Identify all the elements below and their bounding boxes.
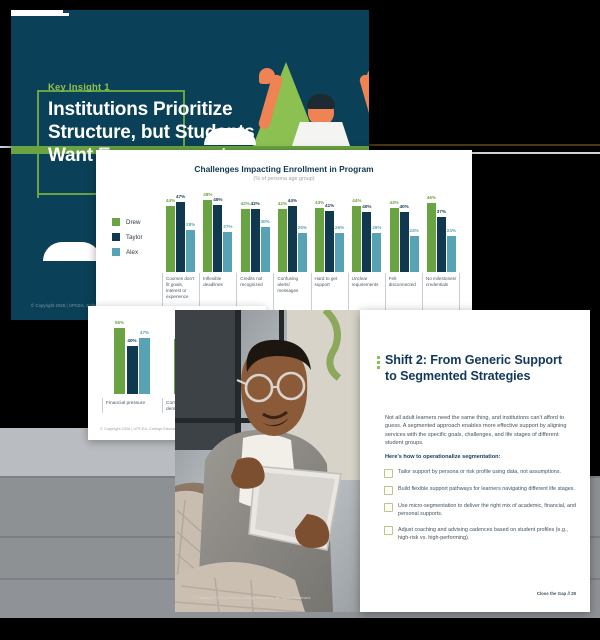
bullet-dots-icon: [377, 356, 380, 371]
bar-value-label: 45%: [213, 197, 222, 202]
bar-taylor: 40%: [127, 346, 138, 394]
bar-alex: 26%: [335, 233, 344, 272]
shift-paragraph: Not all adult learners need the same thi…: [385, 414, 575, 448]
bar-taylor: 40%: [400, 212, 409, 272]
bar-value-label: 42%: [241, 201, 250, 206]
bar-value-label: 30%: [261, 219, 270, 224]
chart-subtitle: (% of persona age group): [96, 176, 472, 182]
bar-value-label: 55%: [115, 320, 124, 325]
legend-item-drew: Drew: [112, 218, 143, 226]
chart-title: Challenges Impacting Enrollment in Progr…: [96, 164, 472, 174]
bar-alex: 30%: [261, 227, 270, 272]
x-axis-label: Credits not recognized: [236, 273, 273, 310]
bar-alex: 26%: [298, 233, 307, 272]
checkbox-icon[interactable]: [384, 503, 393, 512]
photo-illustration: [175, 310, 360, 612]
key-insight-kicker: Key Insight 1: [48, 82, 110, 93]
screenshot-stage: Key Insight 1 Institutions Prioritize St…: [0, 0, 600, 640]
legend-item-alex: Alex: [112, 248, 143, 256]
cloud-base-lower: [11, 13, 69, 16]
legend-label: Taylor: [126, 234, 143, 241]
bar-value-label: 42%: [251, 201, 260, 206]
bar-value-label: 40%: [362, 204, 371, 209]
bar-group: 48%45%27%: [199, 190, 236, 272]
chart-legend: DrewTaylorAlex: [112, 218, 143, 263]
bar-value-label: 41%: [325, 203, 334, 208]
bar-value-label: 24%: [447, 228, 456, 233]
checklist-item-label: Use micro-segmentation to deliver the ri…: [398, 502, 580, 518]
bar-value-label: 40%: [127, 338, 136, 343]
person-hair: [307, 94, 335, 109]
bar-drew: 43%: [315, 208, 324, 272]
legend-label: Drew: [126, 219, 140, 226]
checklist-item[interactable]: Use micro-segmentation to deliver the ri…: [384, 502, 580, 518]
secondary-chart-copyright: © Copyright 2026 | UPCEA, College Educat…: [100, 426, 182, 431]
bar-taylor: 42%: [251, 209, 260, 272]
bar-value-label: 28%: [186, 222, 195, 227]
bar-value-label: 24%: [410, 228, 419, 233]
bar-drew: 42%: [241, 209, 250, 272]
bar-group: 43%40%24%: [386, 190, 423, 272]
bar-value-label: 47%: [140, 330, 149, 335]
checklist-item-label: Build flexible support pathways for lear…: [398, 485, 575, 495]
x-axis-label: Unclear requirements: [348, 273, 385, 310]
title-frame-left: [37, 90, 39, 198]
checkbox-icon[interactable]: [384, 526, 393, 535]
shift-checklist: Tailor support by persona or risk profil…: [384, 468, 580, 549]
checklist-item-label: Tailor support by persona or risk profil…: [398, 468, 561, 478]
bar-value-label: 43%: [390, 200, 399, 205]
checklist-item-label: Adjust coaching and advising cadences ba…: [398, 526, 580, 542]
shift-lead-in: Here's how to operationalize segmentatio…: [385, 454, 500, 460]
bar-drew: 44%: [166, 206, 175, 272]
cloud-icon-lower: [43, 242, 101, 261]
bar-value-label: 46%: [427, 195, 436, 200]
enrollment-chart-slide[interactable]: Challenges Impacting Enrollment in Progr…: [96, 150, 472, 314]
x-axis-label: Financial pressure: [102, 398, 162, 413]
bar-group: 43%41%26%: [311, 190, 348, 272]
legend-label: Alex: [126, 249, 138, 256]
photo-copyright: © Copyright 2026 | UPCEA, College Educat…: [193, 595, 311, 600]
bar-drew: 44%: [352, 206, 361, 272]
x-axis-label: Confusing alerts/ messages: [273, 273, 310, 310]
shift-content-slide[interactable]: Shift 2: From Generic Support to Segment…: [360, 310, 590, 612]
bar-taylor: 40%: [362, 212, 371, 272]
x-axis-label: Felt disconnected: [385, 273, 422, 310]
bar-value-label: 44%: [288, 198, 297, 203]
x-axis-label: Hard to get support: [311, 273, 348, 310]
shift-title: Shift 2: From Generic Support to Segment…: [385, 352, 570, 384]
bar-value-label: 47%: [176, 194, 185, 199]
bar-group: 44%47%28%: [162, 190, 199, 272]
bar-taylor: 41%: [325, 211, 334, 272]
bar-alex: 47%: [139, 338, 150, 394]
chart-x-axis-labels: Courses don't fit goals, interest or exp…: [162, 273, 460, 310]
bar-value-label: 42%: [278, 201, 287, 206]
bar-drew: 55%: [114, 328, 125, 394]
bar-group: 42%44%26%: [274, 190, 311, 272]
learner-photo: © Copyright 2026 | UPCEA, College Educat…: [175, 310, 360, 612]
bar-group: 42%42%30%: [237, 190, 274, 272]
bar-alex: 27%: [223, 232, 232, 272]
bar-alex: 24%: [447, 236, 456, 272]
checklist-item[interactable]: Tailor support by persona or risk profil…: [384, 468, 580, 478]
bar-taylor: 47%: [176, 202, 185, 272]
checkbox-icon[interactable]: [384, 486, 393, 495]
bar-value-label: 37%: [437, 209, 446, 214]
bar-drew: 46%: [427, 203, 436, 272]
bar-taylor: 44%: [288, 206, 297, 272]
x-axis-label: Inflexible deadlines: [199, 273, 236, 310]
bar-value-label: 48%: [203, 192, 212, 197]
bar-value-label: 44%: [166, 198, 175, 203]
x-axis-label: Courses don't fit goals, interest or exp…: [162, 273, 199, 310]
bar-drew: 43%: [390, 208, 399, 272]
bar-value-label: 26%: [298, 225, 307, 230]
bar-value-label: 40%: [400, 204, 409, 209]
bar-taylor: 37%: [437, 217, 446, 272]
person-right-arm: [358, 74, 369, 131]
x-axis-label: No milestones/ credentials: [422, 273, 460, 310]
checklist-item[interactable]: Build flexible support pathways for lear…: [384, 485, 580, 495]
bar-alex: 24%: [410, 236, 419, 272]
checklist-item[interactable]: Adjust coaching and advising cadences ba…: [384, 526, 580, 542]
bar-value-label: 27%: [223, 224, 232, 229]
bar-alex: 28%: [186, 230, 195, 272]
bar-group: 46%37%24%: [423, 190, 460, 272]
legend-swatch-icon: [112, 218, 120, 226]
bar-drew: 48%: [203, 200, 212, 272]
bar-alex: 26%: [372, 233, 381, 272]
checkbox-icon[interactable]: [384, 469, 393, 478]
bar-value-label: 26%: [335, 225, 344, 230]
bar-value-label: 43%: [315, 200, 324, 205]
bar-group: 44%40%26%: [348, 190, 385, 272]
legend-swatch-icon: [112, 248, 120, 256]
bar-drew: 42%: [278, 209, 287, 272]
person-left-fist: [259, 68, 275, 84]
legend-swatch-icon: [112, 233, 120, 241]
bar-value-label: 44%: [352, 198, 361, 203]
page-footer: Close the Gap // 28: [537, 591, 576, 596]
bar-value-label: 26%: [372, 225, 381, 230]
bar-group: 55%40%47%: [102, 320, 162, 394]
bar-taylor: 45%: [213, 205, 222, 272]
legend-item-taylor: Taylor: [112, 233, 143, 241]
chart-plot-area: 44%47%28%48%45%27%42%42%30%42%44%26%43%4…: [162, 190, 460, 272]
